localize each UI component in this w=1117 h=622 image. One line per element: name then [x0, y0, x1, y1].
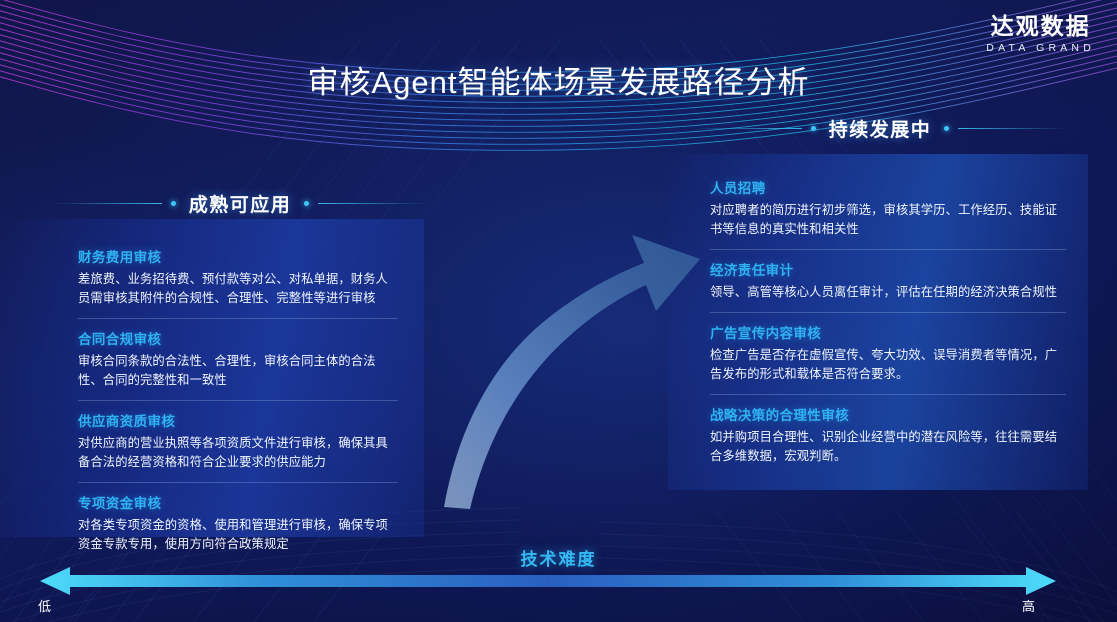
- list-item[interactable]: 经济责任审计 领导、高管等核心人员离任审计，评估在任期的经济决策合规性: [710, 249, 1066, 312]
- list-item[interactable]: 供应商资质审核 对供应商的营业执照等各项资质文件进行审核，确保其具备合法的经营资…: [78, 400, 398, 482]
- heading-line-left: [52, 203, 162, 204]
- page-title: 审核Agent智能体场景发展路径分析: [0, 57, 1117, 102]
- item-body: 检查广告是否存在虚假宣传、夸大功效、误导消费者等情况，广告发布的形式和载体是否符…: [710, 346, 1066, 384]
- item-body: 对供应商的营业执照等各项资质文件进行审核，确保其具备合法的经营资格和符合企业要求…: [78, 434, 398, 472]
- developing-scenarios-panel: 人员招聘 对应聘者的简历进行初步筛选，审核其学历、工作经历、技能证书等信息的真实…: [668, 154, 1088, 490]
- item-title: 战略决策的合理性审核: [710, 404, 1066, 424]
- list-item[interactable]: 战略决策的合理性审核 如并购项目合理性、识别企业经营中的潜在风险等，往往需要结合…: [710, 394, 1066, 476]
- heading-line-right: [318, 203, 428, 204]
- logo-text-cn: 达观数据: [986, 14, 1095, 39]
- section-heading-mature: 成熟可应用: [20, 190, 460, 217]
- item-body: 差旅费、业务招待费、预付款等对公、对私单据，财务人员需审核其附件的合规性、合理性…: [78, 270, 398, 308]
- item-body: 对应聘者的简历进行初步筛选，审核其学历、工作经历、技能证书等信息的真实性和相关性: [710, 201, 1066, 239]
- item-body: 审核合同条款的合法性、合理性，审核合同主体的合法性、合同的完整性和一致性: [78, 352, 398, 390]
- item-title: 专项资金审核: [78, 492, 398, 512]
- heading-dot-right: [304, 201, 309, 206]
- item-title: 人员招聘: [710, 177, 1066, 197]
- item-body: 领导、高管等核心人员离任审计，评估在任期的经济决策合规性: [710, 283, 1066, 302]
- section-heading-mature-label: 成熟可应用: [185, 190, 296, 217]
- item-body: 如并购项目合理性、识别企业经营中的潜在风险等，往往需要结合多维数据，宏观判断。: [710, 428, 1066, 466]
- axis-end-high: 高: [1022, 596, 1035, 615]
- axis-end-low: 低: [38, 596, 51, 615]
- item-title: 广告宣传内容审核: [710, 322, 1066, 342]
- heading-line-left: [692, 128, 802, 129]
- item-title: 财务费用审核: [78, 246, 398, 266]
- list-item[interactable]: 财务费用审核 差旅费、业务招待费、预付款等对公、对私单据，财务人员需审核其附件的…: [78, 237, 398, 318]
- section-heading-developing-label: 持续发展中: [825, 115, 936, 142]
- growth-arrow-icon: [400, 215, 720, 515]
- logo-text-en: DATA GRAND: [986, 42, 1095, 54]
- item-title: 合同合规审核: [78, 328, 398, 348]
- heading-dot-right: [944, 126, 949, 131]
- item-title: 供应商资质审核: [78, 410, 398, 430]
- item-title: 经济责任审计: [710, 259, 1066, 279]
- list-item[interactable]: 合同合规审核 审核合同条款的合法性、合理性，审核合同主体的合法性、合同的完整性和…: [78, 318, 398, 400]
- mature-scenarios-panel: 财务费用审核 差旅费、业务招待费、预付款等对公、对私单据，财务人员需审核其附件的…: [0, 219, 424, 537]
- list-item[interactable]: 广告宣传内容审核 检查广告是否存在虚假宣传、夸大功效、误导消费者等情况，广告发布…: [710, 312, 1066, 394]
- brand-logo: 达观数据 DATA GRAND: [986, 14, 1095, 54]
- slide-canvas: 审核Agent智能体场景发展路径分析 达观数据 DATA GRAND 成熟可应用…: [0, 0, 1117, 622]
- heading-dot-left: [811, 126, 816, 131]
- heading-dot-left: [171, 201, 176, 206]
- list-item[interactable]: 人员招聘 对应聘者的简历进行初步筛选，审核其学历、工作经历、技能证书等信息的真实…: [710, 168, 1066, 249]
- difficulty-double-arrow-icon: [40, 566, 1056, 596]
- section-heading-developing: 持续发展中: [660, 115, 1100, 142]
- heading-line-right: [958, 128, 1068, 129]
